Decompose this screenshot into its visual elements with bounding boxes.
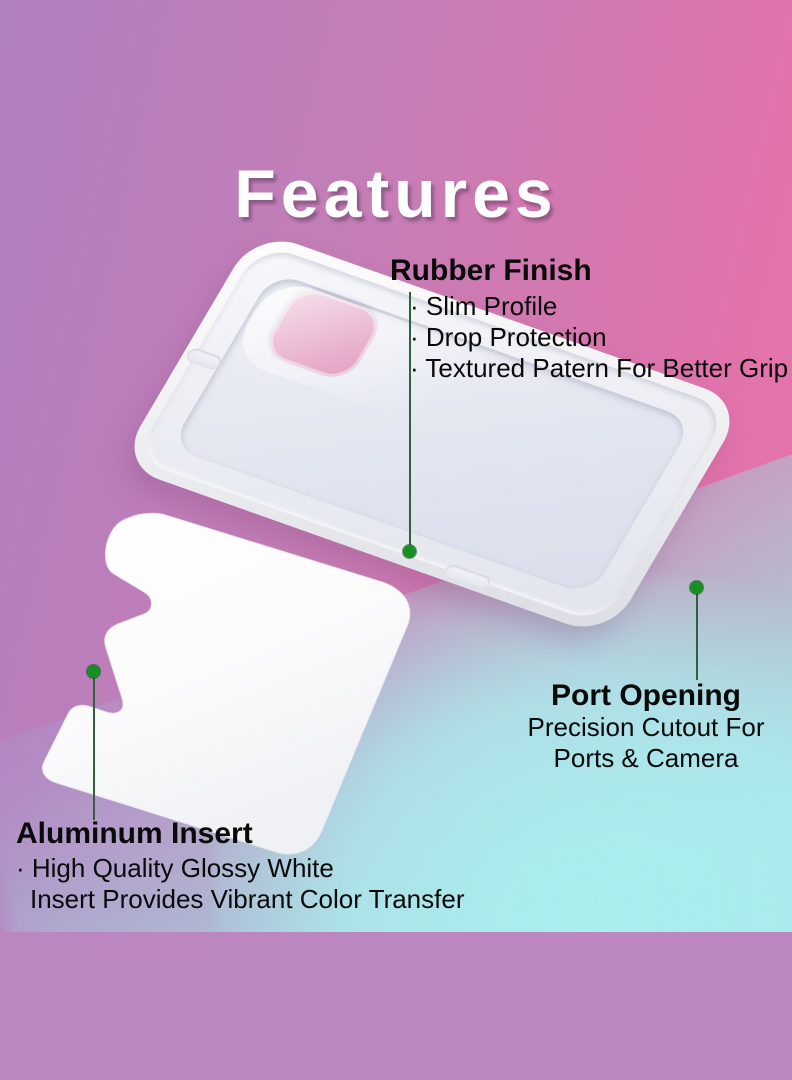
leader-line-insert	[93, 676, 95, 820]
callout-dot-insert	[87, 665, 100, 678]
bottom-purple-band	[0, 932, 792, 1080]
callout-dot-port	[690, 581, 703, 594]
product-feature-poster: Features	[0, 0, 792, 1080]
callout-aluminum-line-1: · High Quality Glossy White	[16, 853, 464, 884]
page-title: Features	[0, 160, 792, 228]
callout-port-line-1: Precision Cutout For	[500, 712, 792, 743]
bullet-drop-protection: · Drop Protection	[410, 322, 788, 353]
callout-port-opening: Port Opening Precision Cutout For Ports …	[500, 680, 792, 774]
bullet-textured-pattern: · Textured Patern For Better Grip	[410, 353, 788, 384]
leader-line-port	[696, 592, 698, 680]
callout-rubber-finish: Rubber Finish · Slim Profile · Drop Prot…	[388, 255, 788, 384]
callout-lines-aluminum: · High Quality Glossy White Insert Provi…	[16, 853, 464, 915]
callout-heading-rubber: Rubber Finish	[390, 255, 788, 287]
callout-heading-port: Port Opening	[500, 680, 792, 712]
callout-aluminum-line-2: Insert Provides Vibrant Color Transfer	[16, 884, 464, 915]
insert-shape	[22, 500, 422, 860]
callout-dot-rubber	[403, 545, 416, 558]
bullet-slim-profile: · Slim Profile	[410, 291, 788, 322]
aluminum-insert-illustration	[22, 500, 422, 860]
callout-aluminum-insert: Aluminum Insert · High Quality Glossy Wh…	[16, 818, 464, 915]
callout-bullets-rubber: · Slim Profile · Drop Protection · Textu…	[410, 291, 788, 385]
callout-heading-aluminum: Aluminum Insert	[16, 818, 464, 850]
callout-port-line-2: Ports & Camera	[500, 743, 792, 774]
